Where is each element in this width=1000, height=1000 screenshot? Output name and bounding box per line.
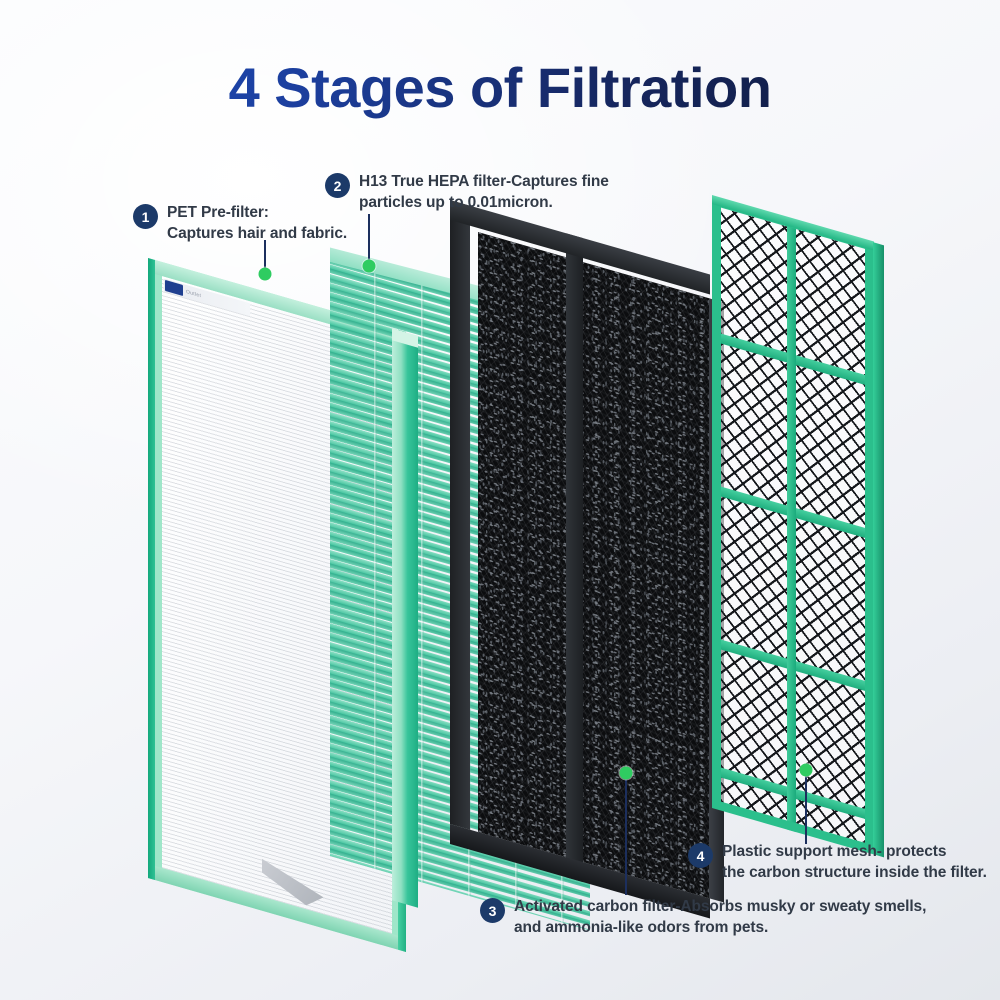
leader-line-3 bbox=[625, 775, 627, 895]
leader-dot-4 bbox=[800, 764, 813, 777]
callout-text-3: Activated carbon filter-Absorbs musky or… bbox=[514, 897, 926, 938]
prefilter-front-post bbox=[392, 340, 418, 907]
callout-badge-2: 2 bbox=[325, 173, 350, 198]
prefilter-label-text: Outlet bbox=[186, 288, 201, 298]
support-mesh-right-edge bbox=[873, 242, 884, 857]
layer-plastic-support-mesh bbox=[712, 196, 874, 854]
hepa-rib bbox=[374, 269, 377, 870]
prefilter-left-edge bbox=[148, 258, 155, 880]
layer-activated-carbon-filter bbox=[478, 232, 710, 899]
carbon-frame-left bbox=[450, 200, 470, 830]
leader-dot-2 bbox=[363, 260, 376, 273]
leader-line-4 bbox=[805, 772, 807, 844]
callout-badge-4: 4 bbox=[688, 843, 713, 868]
callout-text-4: Plastic support mesh- protects the carbo… bbox=[722, 842, 987, 883]
support-mesh-frame bbox=[712, 196, 874, 854]
infographic-stage: 4 Stages of Filtration Outlet bbox=[0, 0, 1000, 1000]
leader-dot-3 bbox=[620, 767, 633, 780]
leader-dot-1 bbox=[259, 268, 272, 281]
callout-1: 1 PET Pre-filter: Captures hair and fabr… bbox=[133, 203, 347, 244]
carbon-center-bar bbox=[566, 233, 583, 882]
leader-line-2 bbox=[368, 214, 370, 265]
callout-badge-3: 3 bbox=[480, 898, 505, 923]
callout-3: 3 Activated carbon filter-Absorbs musky … bbox=[480, 897, 926, 938]
callout-4: 4 Plastic support mesh- protects the car… bbox=[688, 842, 987, 883]
callout-text-2: H13 True HEPA filter-Captures fine parti… bbox=[359, 172, 609, 213]
hepa-rib bbox=[421, 282, 424, 883]
callout-badge-1: 1 bbox=[133, 204, 158, 229]
carbon-granule-texture bbox=[478, 232, 710, 899]
callout-text-1: PET Pre-filter: Captures hair and fabric… bbox=[167, 203, 347, 244]
callout-2: 2 H13 True HEPA filter-Captures fine par… bbox=[325, 172, 609, 213]
